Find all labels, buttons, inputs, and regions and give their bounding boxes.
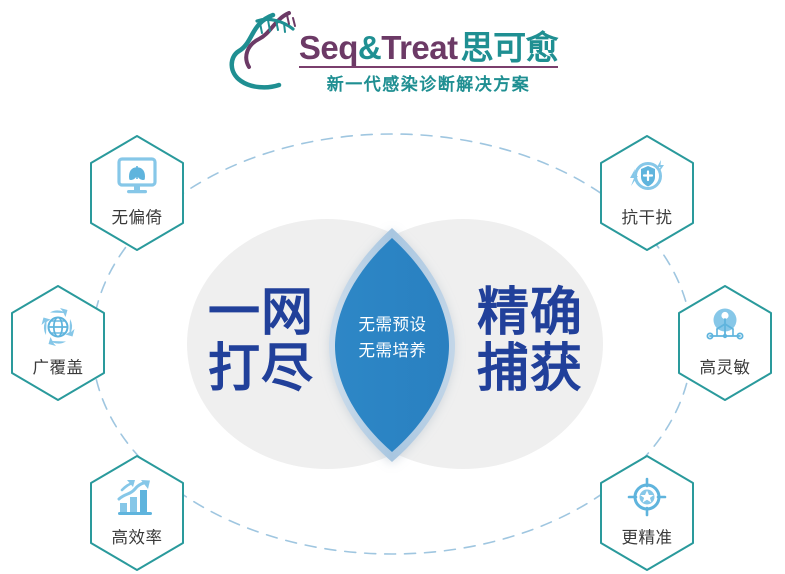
- feature-node-wupianyi[interactable]: 无偏倚: [82, 132, 192, 254]
- venn-left-line1: 一网: [186, 285, 336, 341]
- feature-node-gengjingzhun[interactable]: 更精准: [592, 452, 702, 574]
- logo-ampersand: &: [358, 29, 381, 66]
- feature-label: 高灵敏: [670, 354, 780, 378]
- venn-left-headline: 一网 打尽: [186, 285, 336, 397]
- shield-plus-bolt-icon: [592, 154, 702, 200]
- bar-chart-arrow-icon: [82, 474, 192, 520]
- globe-cycle-icon: [3, 304, 113, 350]
- lens-caption-line2: 无需培养: [330, 339, 455, 365]
- logo-treat: Treat: [381, 29, 457, 66]
- venn-right-headline: 精确 捕获: [455, 285, 605, 397]
- venn-left-line2: 打尽: [186, 341, 336, 397]
- feature-label: 抗干扰: [592, 204, 702, 228]
- feature-label: 广覆盖: [3, 354, 113, 378]
- feature-node-gaoxiaolv[interactable]: 高效率: [82, 452, 192, 574]
- brand-logo: Seq&Treat思可愈 新一代感染诊断解决方案: [0, 4, 785, 100]
- feature-label: 更精准: [592, 524, 702, 548]
- network-node-icon: [670, 304, 780, 350]
- feature-label: 无偏倚: [82, 204, 192, 228]
- dna-helix-icon: [227, 9, 305, 95]
- infographic-canvas: Seq&Treat思可愈 新一代感染诊断解决方案 一网 打尽 精确 捕获 无需预…: [0, 0, 785, 555]
- feature-node-kangganrao[interactable]: 抗干扰: [592, 132, 702, 254]
- logo-chinese-name: 思可愈: [461, 29, 559, 66]
- logo-wordmark: Seq&Treat思可愈: [299, 31, 558, 69]
- lens-caption-line1: 无需预设: [330, 313, 455, 339]
- target-star-icon: [592, 474, 702, 520]
- lens-caption: 无需预设 无需培养: [330, 313, 455, 364]
- logo-subtitle: 新一代感染诊断解决方案: [327, 70, 531, 95]
- venn-right-line2: 捕获: [455, 341, 605, 397]
- venn-right-line1: 精确: [455, 285, 605, 341]
- feature-label: 高效率: [82, 524, 192, 548]
- feature-node-gaolingmin[interactable]: 高灵敏: [670, 282, 780, 404]
- logo-seq: Seq: [299, 29, 358, 66]
- monitor-lungs-icon: [82, 154, 192, 200]
- feature-node-guangfugai[interactable]: 广覆盖: [3, 282, 113, 404]
